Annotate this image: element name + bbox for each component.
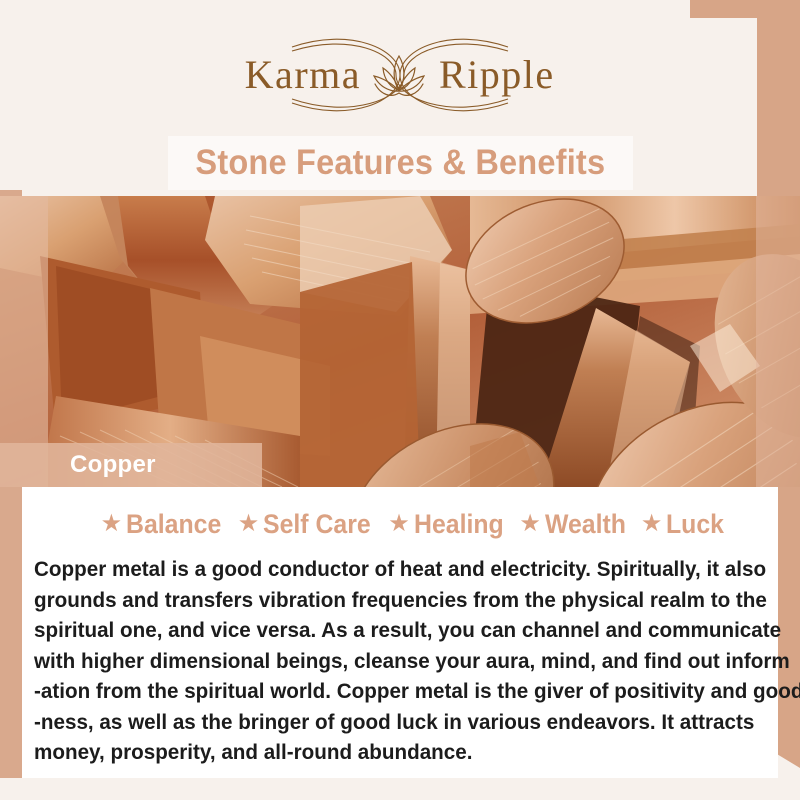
benefit-item: ★ Luck (641, 509, 730, 540)
benefit-item: ★ Wealth (519, 509, 641, 540)
star-icon: ★ (519, 512, 541, 536)
description-line: grounds and transfers vibration frequenc… (34, 585, 744, 616)
star-icon: ★ (641, 512, 663, 536)
photo-right-overlay (756, 196, 800, 487)
description-text: Copper metal is a good conductor of heat… (34, 554, 744, 768)
photo-caption-bar: Copper (0, 443, 262, 487)
benefit-item: ★ Self Care (238, 509, 389, 540)
brand-name-left: Karma (201, 55, 367, 95)
benefits-row: ★ Balance ★ Self Care ★ Healing ★ Wealth… (22, 500, 778, 548)
description-line: money, prosperity, and all-round abundan… (34, 737, 744, 768)
star-icon: ★ (101, 512, 123, 536)
title-banner: Stone Features & Benefits (168, 136, 633, 190)
photo-caption: Copper (70, 451, 156, 479)
infographic-page: Karma Ripple Stone Features & Benefits (0, 0, 800, 800)
description-line: with higher dimensional beings, cleanse … (34, 646, 744, 677)
description-line: spiritual one, and vice versa. As a resu… (34, 615, 744, 646)
benefit-label: Wealth (545, 509, 626, 540)
benefit-item: ★ Balance (101, 509, 238, 540)
description-line: Copper metal is a good conductor of heat… (34, 554, 744, 585)
content-panel: ★ Balance ★ Self Care ★ Healing ★ Wealth… (22, 487, 778, 778)
description-line: -ness, as well as the bringer of good lu… (34, 707, 744, 738)
copper-photo: Copper (0, 196, 800, 487)
lotus-icon (367, 48, 431, 102)
star-icon: ★ (238, 512, 260, 536)
brand-name-right: Ripple (431, 55, 599, 95)
star-icon: ★ (388, 512, 410, 536)
brand-logo: Karma Ripple (0, 22, 800, 128)
description-line: -ation from the spiritual world. Copper … (34, 676, 744, 707)
page-title: Stone Features & Benefits (196, 143, 606, 183)
benefit-label: Luck (666, 509, 724, 540)
benefit-label: Balance (126, 509, 221, 540)
benefit-label: Self Care (263, 509, 371, 540)
benefit-label: Healing (414, 509, 504, 540)
benefit-item: ★ Healing (388, 509, 519, 540)
